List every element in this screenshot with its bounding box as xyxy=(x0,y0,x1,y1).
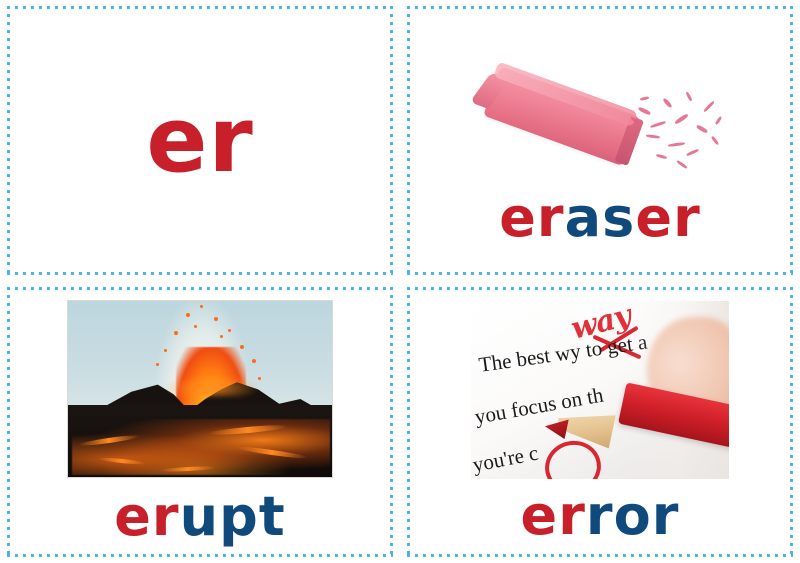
flashcard-phonogram-er[interactable]: er xyxy=(0,0,400,281)
proofreading-photo: way The best wy to get a you focus on th… xyxy=(471,301,729,479)
eraser-shaving xyxy=(674,113,689,125)
lava-spark xyxy=(156,363,159,366)
eraser-shaving xyxy=(638,106,651,115)
lava-spark xyxy=(194,325,197,328)
flashcard-word-error[interactable]: way The best wy to get a you focus on th… xyxy=(400,281,800,563)
word-segment-1: er xyxy=(499,186,564,249)
eraser-shaving xyxy=(668,141,685,146)
lava-spark xyxy=(220,335,223,338)
flashcard-word-erupt[interactable]: erupt xyxy=(0,281,400,563)
eraser-shaving xyxy=(640,96,649,101)
eraser-shaving xyxy=(686,148,699,156)
eraser-shaving xyxy=(703,100,715,112)
eraser-shaving xyxy=(715,115,723,124)
flashcard-sheet: er xyxy=(0,0,800,563)
eraser-shaving xyxy=(662,97,672,108)
volcano-photo xyxy=(67,300,333,478)
eraser-shaving xyxy=(650,120,666,128)
lava-spark xyxy=(228,329,231,332)
volcano-crater-glow xyxy=(164,375,260,397)
eraser-shaving xyxy=(696,124,708,133)
lava-spark xyxy=(200,305,203,308)
lava-spark xyxy=(252,359,256,363)
flashcard-word-eraser[interactable]: eraser xyxy=(400,0,800,281)
lava-spark xyxy=(186,313,190,317)
word-segment-3: er xyxy=(635,186,700,249)
word-segment-2: as xyxy=(565,186,636,249)
eraser-shaving xyxy=(646,134,660,139)
lava-spark xyxy=(214,317,218,321)
lava-spark xyxy=(164,349,167,352)
word-segment-2: ror xyxy=(586,484,680,547)
word-segment-1: er xyxy=(114,485,179,548)
eraser-shaving xyxy=(676,159,687,168)
eraser-shaving xyxy=(656,153,667,159)
lava-spark xyxy=(174,331,178,335)
eraser-shaving xyxy=(711,135,720,145)
word-segment-1: er xyxy=(520,484,585,547)
word-error: error xyxy=(520,489,679,543)
phonogram-text: er xyxy=(146,96,253,186)
word-eraser: eraser xyxy=(499,191,701,245)
eraser-shaving xyxy=(685,91,692,101)
eraser-photo xyxy=(470,31,730,191)
word-segment-2: upt xyxy=(180,485,286,548)
lava-spark xyxy=(240,345,244,349)
word-erupt: erupt xyxy=(114,490,286,544)
